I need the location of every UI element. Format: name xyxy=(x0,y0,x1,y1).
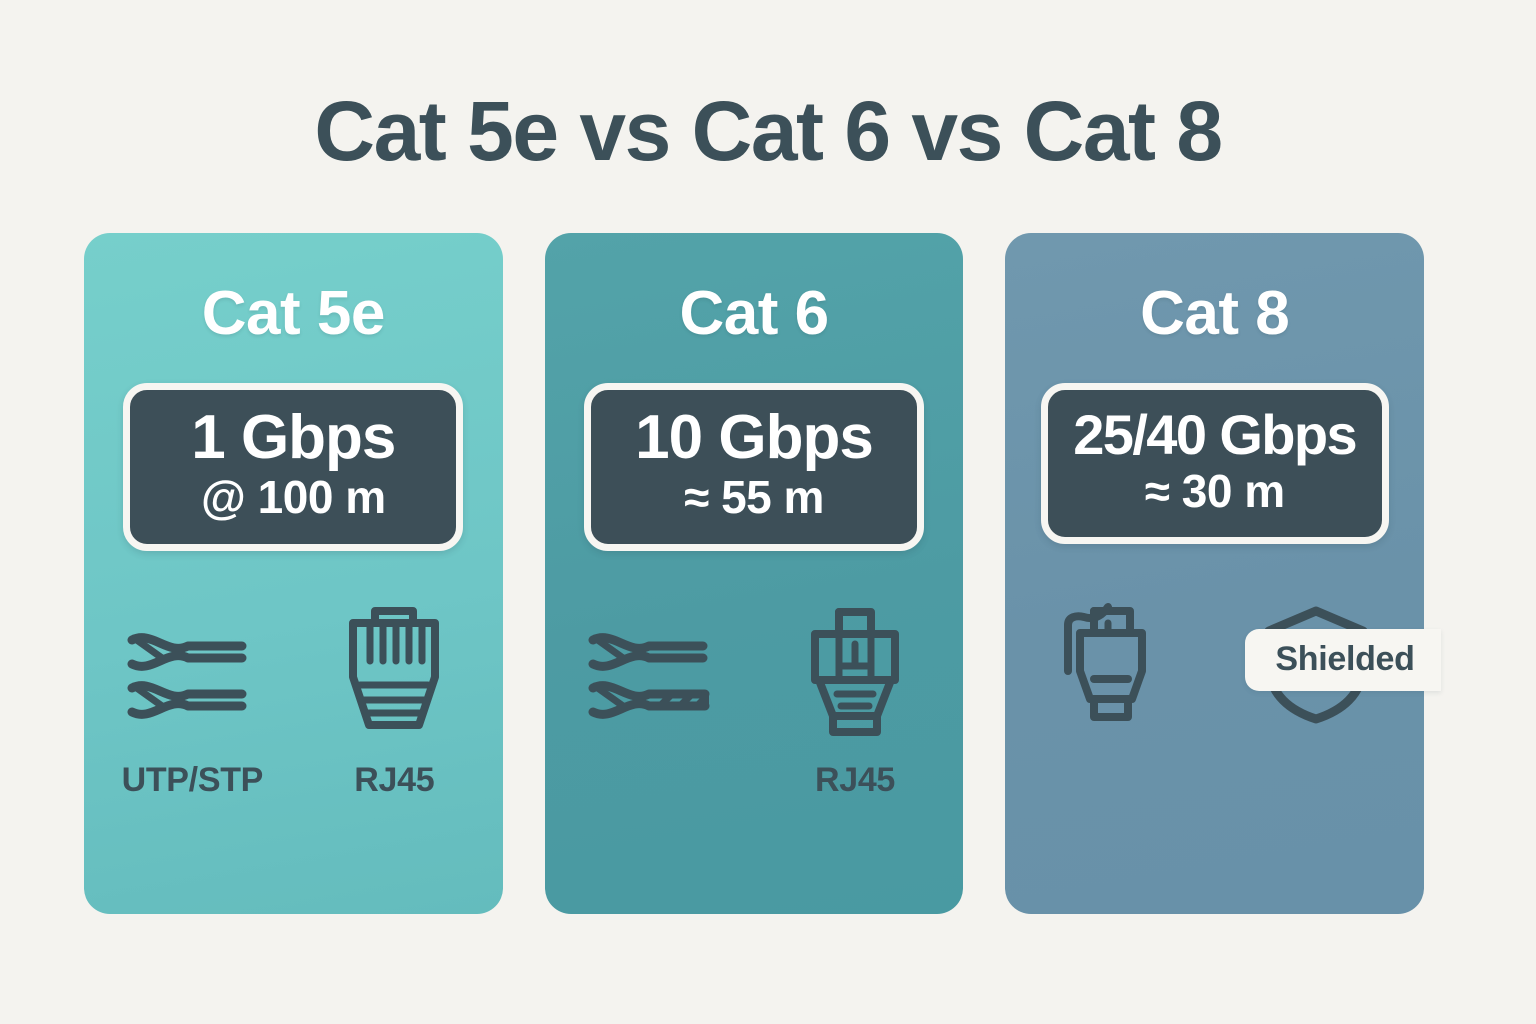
spec-distance-cat6: ≈ 55 m xyxy=(617,473,891,521)
card-cat6[interactable]: Cat 6 10 Gbps ≈ 55 m xyxy=(545,233,964,914)
spec-badge-cat8: 25/40 Gbps ≈ 30 m xyxy=(1041,383,1389,544)
icon-cell-rj45-cat6: RJ45 xyxy=(780,597,930,797)
spec-speed-cat5e: 1 Gbps xyxy=(156,406,430,469)
spec-distance-cat8: ≈ 30 m xyxy=(1064,467,1366,515)
twisted-pair-cable-icon xyxy=(583,597,723,747)
card-body-cat8: Cat 8 25/40 Gbps ≈ 30 m xyxy=(1005,283,1424,544)
spec-speed-cat8: 25/40 Gbps xyxy=(1064,406,1366,463)
comparison-cards: Cat 5e 1 Gbps @ 100 m xyxy=(84,233,1424,914)
spec-badge-cat5e: 1 Gbps @ 100 m xyxy=(123,383,463,551)
spec-distance-cat5e: @ 100 m xyxy=(156,473,430,521)
rj45-connector-icon xyxy=(339,597,449,747)
icon-cell-twisted-pair-cat6 xyxy=(578,597,728,763)
icon-row-cat6: RJ45 xyxy=(545,597,964,797)
card-cat8[interactable]: Cat 8 25/40 Gbps ≈ 30 m xyxy=(1005,233,1424,914)
card-body-cat6: Cat 6 10 Gbps ≈ 55 m xyxy=(545,283,964,551)
icon-row-cat5e: UTP/STP xyxy=(84,597,503,797)
card-heading-cat8: Cat 8 xyxy=(1140,283,1289,345)
page-title: Cat 5e vs Cat 6 vs Cat 8 xyxy=(0,86,1536,177)
icon-cell-utp-stp: UTP/STP xyxy=(117,597,267,797)
icon-cell-rj45-cat5e: RJ45 xyxy=(319,597,469,797)
icon-label-rj45-cat5e: RJ45 xyxy=(354,763,434,797)
card-body-cat5e: Cat 5e 1 Gbps @ 100 m xyxy=(84,283,503,551)
icon-label-rj45-cat6: RJ45 xyxy=(815,763,895,797)
spec-badge-cat6: 10 Gbps ≈ 55 m xyxy=(584,383,924,551)
icon-cell-shielded-connector xyxy=(1039,590,1189,756)
rj45-connector-icon xyxy=(799,597,911,747)
card-heading-cat6: Cat 6 xyxy=(679,283,828,345)
icon-label-utp-stp: UTP/STP xyxy=(122,763,263,797)
spec-speed-cat6: 10 Gbps xyxy=(617,406,891,469)
shielded-badge: Shielded xyxy=(1245,629,1440,691)
shielded-connector-icon xyxy=(1054,590,1174,740)
card-cat5e[interactable]: Cat 5e 1 Gbps @ 100 m xyxy=(84,233,503,914)
card-heading-cat5e: Cat 5e xyxy=(202,283,385,345)
twisted-pair-cable-icon xyxy=(122,597,262,747)
infographic-canvas: Cat 5e vs Cat 6 vs Cat 8 Cat 5e 1 Gbps @… xyxy=(0,0,1536,1024)
